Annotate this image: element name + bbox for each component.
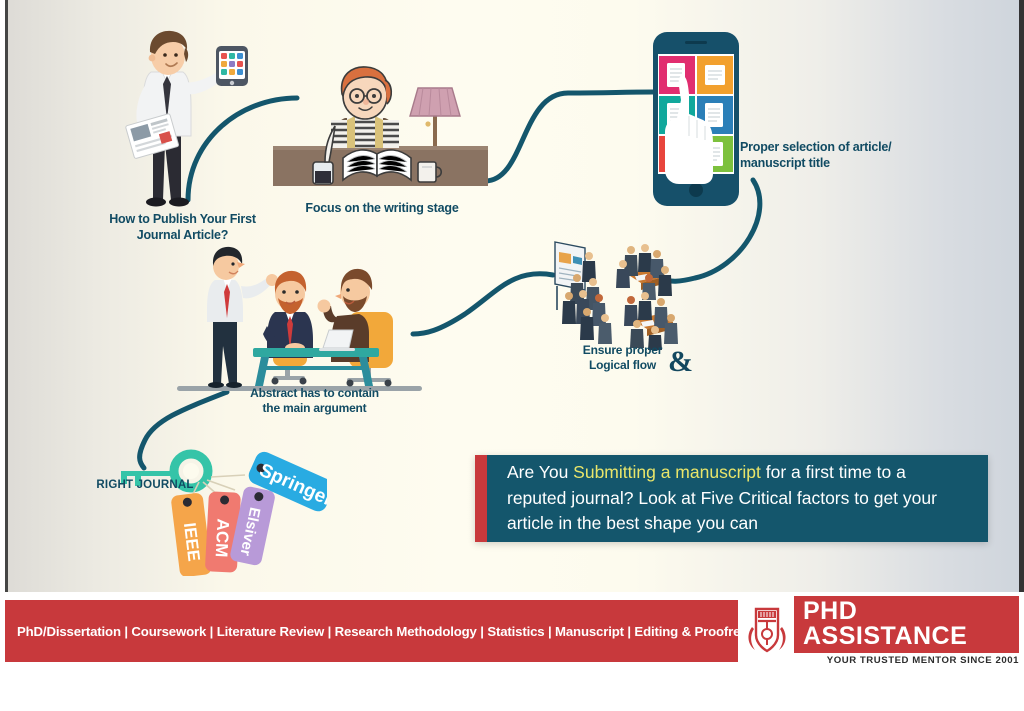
illustration-conference-crowd xyxy=(549,238,683,350)
connector-4 xyxy=(413,274,553,334)
ampersand-glyph: & xyxy=(668,345,693,379)
step-label-line1: RIGHT JOURNAL xyxy=(90,478,200,492)
step-label-abstract: Abstract has to contain the main argumen… xyxy=(227,386,402,416)
illustration-key-with-journal-tags: IEEE ACM Elsiver Spring xyxy=(87,444,327,576)
footer-services-text: PhD/Dissertation | Coursework | Literatu… xyxy=(5,624,775,639)
step-label-line2: the main argument xyxy=(227,401,402,416)
footer-bar: PhD/Dissertation | Coursework | Literatu… xyxy=(5,600,1019,662)
step-label-how-to-publish: How to Publish Your First Journal Articl… xyxy=(85,212,280,243)
illustration-businessman xyxy=(113,24,253,214)
step-label-line2: Logical flow xyxy=(560,358,685,373)
step-label-line2: manuscript title xyxy=(740,156,920,172)
step-label-focus-writing: Focus on the writing stage xyxy=(287,201,477,217)
step-label-line1: How to Publish Your First xyxy=(85,212,280,228)
callout-accent-bar xyxy=(475,455,487,542)
illustration-business-meeting xyxy=(177,244,422,396)
infographic-canvas: IEEE ACM Elsiver Spring xyxy=(5,0,1019,592)
brand-text-wrapper: PHD ASSISTANCE YOUR TRUSTED MENTOR SINCE… xyxy=(794,596,1019,666)
connector-2 xyxy=(485,92,653,181)
illustration-smartphone-tiles xyxy=(641,28,753,210)
step-label-line1: Focus on the writing stage xyxy=(287,201,477,217)
brand-tagline: YOUR TRUSTED MENTOR SINCE 2001 xyxy=(794,655,1019,666)
footer-services-bar: PhD/Dissertation | Coursework | Literatu… xyxy=(5,600,738,662)
callout-box: Are You Submitting a manuscript for a fi… xyxy=(475,455,988,542)
brand-name: PHD ASSISTANCE xyxy=(803,597,967,650)
brand-name-box: PHD ASSISTANCE xyxy=(794,596,1019,653)
callout-highlight: Submitting a manuscript xyxy=(573,462,761,482)
brand-lockup[interactable]: PHD ASSISTANCE YOUR TRUSTED MENTOR SINCE… xyxy=(738,600,1019,662)
step-label-line1: Proper selection of article/ xyxy=(740,140,920,156)
step-label-line1: Ensure proper xyxy=(560,343,685,358)
step-label-right-journal: RIGHT JOURNAL xyxy=(90,478,200,492)
callout-text-before: Are You xyxy=(507,462,573,482)
desk-lamp xyxy=(410,88,460,156)
svg-text:ACM: ACM xyxy=(212,518,233,558)
step-label-logical-flow: Ensure proper Logical flow xyxy=(560,343,685,373)
crest-icon xyxy=(744,605,790,657)
step-label-line1: Abstract has to contain xyxy=(227,386,402,401)
illustration-writer-at-desk xyxy=(273,58,488,203)
step-label-proper-selection: Proper selection of article/ manuscript … xyxy=(740,140,920,171)
infographic-stage: IEEE ACM Elsiver Spring xyxy=(0,0,1024,711)
callout-text: Are You Submitting a manuscript for a fi… xyxy=(487,460,988,536)
step-label-line2: Journal Article? xyxy=(85,228,280,244)
